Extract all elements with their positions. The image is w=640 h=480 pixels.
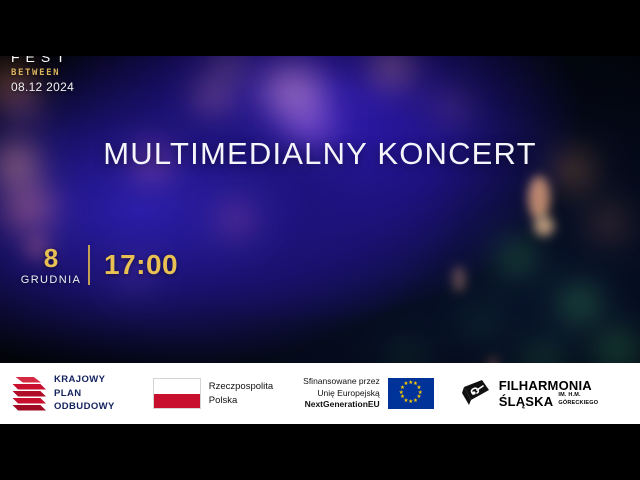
kpo-label: KRAJOWY PLAN ODBUDOWY bbox=[54, 373, 115, 413]
kpo-line-2: PLAN bbox=[54, 387, 115, 400]
eu-line-3: NextGenerationEU bbox=[303, 399, 380, 411]
event-time: 17:00 bbox=[104, 249, 178, 281]
filharmonia-line-1: FILHARMONIA bbox=[499, 379, 599, 393]
bokeh-light bbox=[436, 92, 466, 120]
page-title: MULTIMEDIALNY KONCERT bbox=[0, 136, 640, 172]
logo-between-text: BETWEEN bbox=[11, 69, 97, 78]
bokeh-light bbox=[452, 266, 466, 292]
kpo-line-3: ODBUDOWY bbox=[54, 400, 115, 413]
eu-line-1: Sfinansowane przez bbox=[303, 376, 380, 388]
filharmonia-line-2: ŚLĄSKA bbox=[499, 395, 554, 409]
letterbox-bottom bbox=[0, 424, 640, 480]
filharmonia-sub-line-1: IM. H.M. bbox=[558, 392, 598, 399]
kpo-logo-icon bbox=[12, 376, 46, 412]
bokeh-light bbox=[196, 80, 230, 110]
bokeh-light bbox=[2, 184, 54, 232]
concert-poster: GAME MUSIC FEST BETWEEN 08.12 2024 MULTI… bbox=[0, 0, 640, 480]
filharmonia-logo-icon bbox=[460, 378, 492, 410]
bokeh-light bbox=[528, 176, 550, 220]
bokeh-light bbox=[6, 90, 40, 122]
event-datetime: 8 GRUDNIA 17:00 bbox=[20, 237, 178, 293]
sponsor-european-union: Sfinansowane przez Unię Europejską NextG… bbox=[303, 363, 434, 424]
logo-date-text: 08.12 2024 bbox=[11, 81, 97, 93]
eu-flag-icon: ★★★★★★★★★★★★ bbox=[388, 378, 434, 409]
datetime-divider bbox=[88, 245, 90, 285]
bokeh-light bbox=[534, 216, 554, 236]
bokeh-light bbox=[468, 312, 494, 336]
eu-funding-label: Sfinansowane przez Unię Europejską NextG… bbox=[303, 376, 380, 412]
sponsor-footer: KRAJOWY PLAN ODBUDOWY Rzeczpospolita Pol… bbox=[0, 363, 640, 424]
kpo-line-1: KRAJOWY bbox=[54, 373, 115, 386]
sponsor-kpo: KRAJOWY PLAN ODBUDOWY bbox=[12, 363, 115, 424]
republic-line-1: Rzeczpospolita bbox=[209, 380, 273, 394]
filharmonia-label: FILHARMONIA ŚLĄSKA IM. H.M. GÓRECKIEGO bbox=[499, 379, 599, 409]
republic-label: Rzeczpospolita Polska bbox=[209, 380, 273, 408]
letterbox-top bbox=[0, 0, 640, 56]
bokeh-light bbox=[500, 242, 534, 274]
sponsor-filharmonia-slaska: FILHARMONIA ŚLĄSKA IM. H.M. GÓRECKIEGO bbox=[460, 363, 599, 424]
bokeh-light bbox=[218, 202, 254, 236]
republic-line-2: Polska bbox=[209, 394, 273, 408]
sponsor-republic-of-poland: Rzeczpospolita Polska bbox=[153, 363, 273, 424]
event-day-block: 8 GRUDNIA bbox=[20, 245, 82, 286]
filharmonia-sub-line-2: GÓRECKIEGO bbox=[558, 400, 598, 407]
event-month-label: GRUDNIA bbox=[20, 275, 82, 286]
filharmonia-sublabel: IM. H.M. GÓRECKIEGO bbox=[558, 392, 598, 407]
bokeh-light bbox=[560, 286, 600, 322]
event-day-number: 8 bbox=[20, 245, 82, 271]
eu-line-2: Unię Europejską bbox=[303, 388, 380, 400]
poland-flag-icon bbox=[153, 378, 201, 409]
eu-star-icon: ★ bbox=[403, 382, 409, 388]
bokeh-light bbox=[592, 206, 626, 240]
